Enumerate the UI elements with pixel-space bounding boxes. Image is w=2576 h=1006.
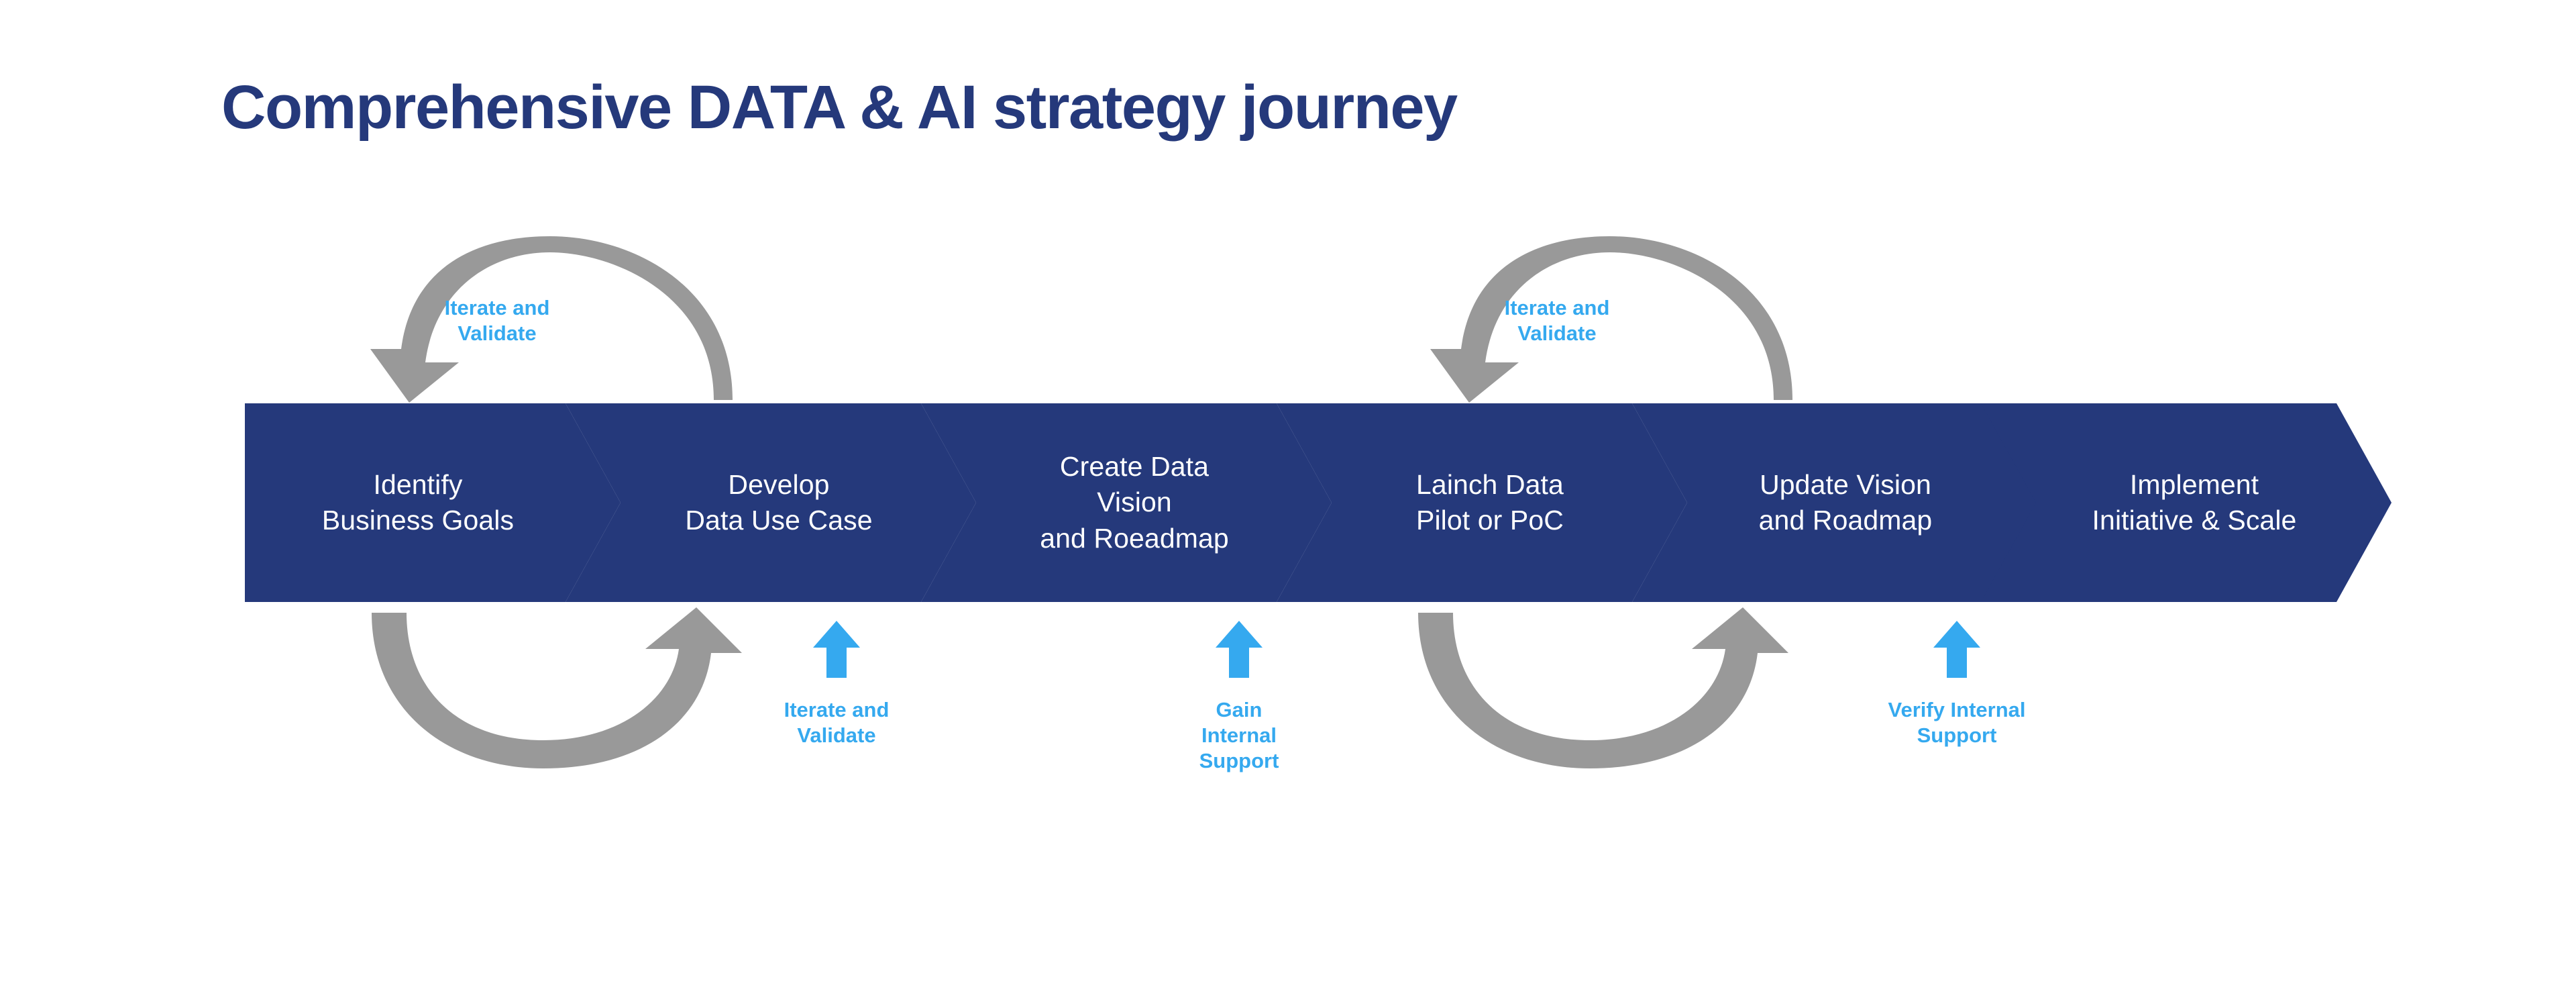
- chevron-stage-3-line-1: Create Data: [1040, 449, 1229, 485]
- chevron-stage-5-line-1: Update Vision: [1759, 467, 1933, 503]
- arrow-up-icon: [1933, 621, 1980, 678]
- loop-arc-bottom-1: [372, 607, 747, 768]
- chevron-stage-4-label: Lainch Data Pilot or PoC: [1416, 467, 1564, 539]
- chevron-stage-3-line-3: and Roeadmap: [1040, 521, 1229, 556]
- gate-3-label: Verify Internal Support: [1856, 697, 2057, 748]
- loop-arc-bottom-1-icon: [372, 607, 747, 768]
- chevron-stage-4-line-2: Pilot or PoC: [1416, 503, 1564, 538]
- arrow-up-icon: [1216, 621, 1263, 678]
- gate-3-arrow: [1933, 621, 1980, 678]
- chevron-stage-3-line-2: Vision: [1040, 485, 1229, 520]
- chevron-stage-2-label: Develop Data Use Case: [685, 467, 872, 539]
- arrow-up-shape: [1216, 621, 1263, 678]
- loop-arc-bottom-2-icon: [1418, 607, 1794, 768]
- chevron-stage-6-label: Implement Initiative & Scale: [2092, 467, 2297, 539]
- arc-shape: [372, 607, 742, 768]
- chevron-stage-5-line-2: and Roadmap: [1759, 503, 1933, 538]
- arc-shape: [1418, 607, 1788, 768]
- chevron-stage-1[interactable]: Identify Business Goals: [245, 403, 621, 602]
- chevron-stage-6-line-2: Initiative & Scale: [2092, 503, 2297, 538]
- chevron-stage-1-line-2: Business Goals: [322, 503, 514, 538]
- loop-arc-top-1-label: Iterate and Validate: [410, 295, 584, 346]
- chevron-stage-6[interactable]: Implement Initiative & Scale: [1981, 403, 2392, 602]
- diagram-canvas: Comprehensive DATA & AI strategy journey…: [0, 0, 2576, 1006]
- chevron-stage-2[interactable]: Develop Data Use Case: [566, 403, 976, 602]
- chevron-stage-1-label: Identify Business Goals: [322, 467, 514, 539]
- gate-2-arrow: [1216, 621, 1263, 678]
- chevron-stage-6-line-1: Implement: [2092, 467, 2297, 503]
- gate-1-arrow: [813, 621, 860, 678]
- chevron-stage-4[interactable]: Lainch Data Pilot or PoC: [1277, 403, 1687, 602]
- chevron-stage-5-label: Update Vision and Roadmap: [1759, 467, 1933, 539]
- chevron-stage-4-line-1: Lainch Data: [1416, 467, 1564, 503]
- chevron-stage-5[interactable]: Update Vision and Roadmap: [1632, 403, 2043, 602]
- arrow-up-shape: [1933, 621, 1980, 678]
- chevron-stage-1-line-1: Identify: [322, 467, 514, 503]
- gate-2-label: Gain Internal Support: [1138, 697, 1340, 773]
- chevron-stage-3[interactable]: Create Data Vision and Roeadmap: [921, 403, 1332, 602]
- chevron-stage-3-label: Create Data Vision and Roeadmap: [1040, 449, 1229, 556]
- arrow-up-shape: [813, 621, 860, 678]
- loop-arc-bottom-2: [1418, 607, 1794, 768]
- chevron-stage-2-line-2: Data Use Case: [685, 503, 872, 538]
- page-title: Comprehensive DATA & AI strategy journey: [221, 75, 1457, 140]
- gate-1-label: Iterate and Validate: [736, 697, 937, 748]
- chevron-stage-2-line-1: Develop: [685, 467, 872, 503]
- loop-arc-top-2-label: Iterate and Validate: [1470, 295, 1644, 346]
- process-chevron-row: Identify Business Goals Develop Data Use…: [0, 403, 2576, 602]
- arrow-up-icon: [813, 621, 860, 678]
